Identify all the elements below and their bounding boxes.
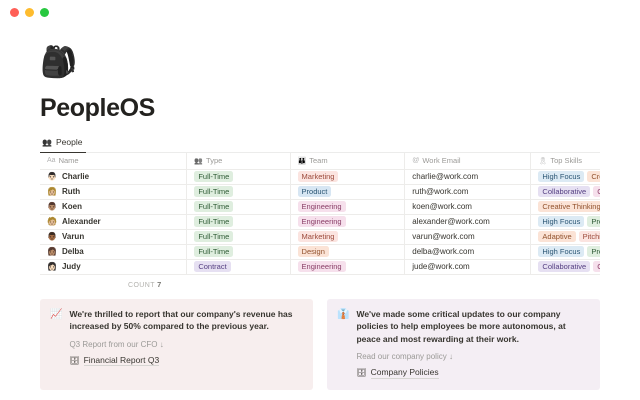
backpack-icon[interactable]: 🎒 [40, 48, 600, 78]
skill-tag[interactable]: Collaborative [538, 186, 590, 197]
column-header-type-label: Type [206, 156, 222, 165]
avatar: 👨🏻 [47, 172, 57, 181]
callout-policies: 👔 We've made some critical updates to ou… [327, 299, 600, 390]
type-tag[interactable]: Full-Time [194, 186, 233, 197]
table-row[interactable]: 👨🏾 Varun Full-Time Marketing varun@work.… [40, 229, 600, 244]
skill-tag[interactable]: Pitching [579, 231, 600, 242]
file-icon: 🗄 [356, 368, 366, 377]
column-header-team[interactable]: 👪 Team [290, 153, 405, 169]
column-header-work-email-label: Work Email [422, 156, 460, 165]
skill-tag[interactable]: High Focus [538, 216, 584, 227]
cell-team[interactable]: Marketing [290, 229, 405, 244]
table-header-row: Aa Name 👥 Type 👪 Team [40, 153, 600, 169]
cell-top-skills[interactable]: AdaptivePitchingControl [531, 229, 600, 244]
cell-work-email[interactable]: jude@work.com [405, 259, 531, 274]
callout-revenue: 📈 We're thrilled to report that our comp… [40, 299, 313, 390]
cell-work-email[interactable]: delba@work.com [405, 244, 531, 259]
table-row[interactable]: 🧑🏼 Alexander Full-Time Engineering alexa… [40, 214, 600, 229]
cell-name[interactable]: 👨🏾 Varun [40, 229, 187, 244]
people-icon: 👥 [42, 138, 52, 147]
team-tag[interactable]: Engineering [298, 261, 346, 272]
close-window-button[interactable] [10, 8, 19, 17]
count-label: COUNT [128, 282, 155, 289]
necktie-icon: 👔 [337, 308, 349, 379]
file-icon: 🗄 [69, 356, 79, 365]
cell-team[interactable]: Product [290, 184, 405, 199]
cell-work-email[interactable]: ruth@work.com [405, 184, 531, 199]
cell-top-skills[interactable]: CollaborativeCommunication [531, 259, 600, 274]
skill-tag[interactable]: Problem Solving [587, 246, 600, 257]
cell-name[interactable]: 👨🏽 Koen [40, 199, 187, 214]
column-header-name-label: Name [59, 156, 79, 165]
person-name: Delba [62, 247, 84, 256]
window-titlebar [0, 0, 640, 24]
zoom-window-button[interactable] [40, 8, 49, 17]
skill-tag[interactable]: High Focus [538, 246, 584, 257]
text-type-icon: Aa [47, 157, 56, 164]
person-name: Varun [62, 232, 84, 241]
cell-team[interactable]: Engineering [290, 199, 405, 214]
cell-type[interactable]: Full-Time [187, 169, 290, 184]
cell-type[interactable]: Full-Time [187, 229, 290, 244]
callout-revenue-subtext: Q3 Report from our CFO ↓ [69, 340, 303, 349]
cell-name[interactable]: 👩🏽 Delba [40, 244, 187, 259]
cell-top-skills[interactable]: High FocusProblem Solving [531, 214, 600, 229]
person-name: Judy [62, 262, 81, 271]
skill-tag[interactable]: Communication [593, 186, 600, 197]
callout-revenue-heading: We're thrilled to report that our compan… [69, 308, 303, 333]
team-tag[interactable]: Marketing [298, 231, 339, 242]
cell-type[interactable]: Full-Time [187, 199, 290, 214]
minimize-window-button[interactable] [25, 8, 34, 17]
callout-policies-heading: We've made some critical updates to our … [356, 308, 590, 346]
people-database-table: Aa Name 👥 Type 👪 Team [40, 153, 600, 275]
type-tag[interactable]: Full-Time [194, 216, 233, 227]
avatar: 👨🏽 [47, 202, 57, 211]
skill-tag[interactable]: Problem Solving [587, 216, 600, 227]
avatar: 👩🏽 [47, 247, 57, 256]
team-tag[interactable]: Marketing [298, 171, 339, 182]
chart-increasing-icon: 📈 [50, 308, 62, 379]
skill-tag[interactable]: Creative Thinking [538, 201, 600, 212]
avatar: 👨🏾 [47, 232, 57, 241]
column-header-name[interactable]: Aa Name [40, 153, 187, 169]
cell-team[interactable]: Design [290, 244, 405, 259]
avatar: 🧑🏼 [47, 217, 57, 226]
cell-work-email[interactable]: alexander@work.com [405, 214, 531, 229]
type-tag[interactable]: Contract [194, 261, 230, 272]
avatar: 👩🏼 [47, 187, 57, 196]
table-row[interactable]: 👩🏻 Judy Contract Engineering jude@work.c… [40, 259, 600, 274]
column-header-top-skills-label: Top Skills [550, 156, 582, 165]
column-header-top-skills[interactable]: 🎗 Top Skills [531, 153, 600, 169]
type-tag[interactable]: Full-Time [194, 231, 233, 242]
cell-work-email[interactable]: koen@work.com [405, 199, 531, 214]
column-header-work-email[interactable]: @ Work Email [405, 153, 531, 169]
callout-policies-link-label: Company Policies [371, 367, 439, 379]
tab-people-label: People [56, 137, 82, 147]
cell-name[interactable]: 🧑🏼 Alexander [40, 214, 187, 229]
cell-work-email[interactable]: varun@work.com [405, 229, 531, 244]
type-tag[interactable]: Full-Time [194, 201, 233, 212]
multiselect-type-icon: 👪 [298, 157, 307, 165]
cell-team[interactable]: Engineering [290, 259, 405, 274]
cell-top-skills[interactable]: High FocusCreative Thinking [531, 169, 600, 184]
table-row[interactable]: 👨🏻 Charlie Full-Time Marketing charlie@w… [40, 169, 600, 184]
tab-people[interactable]: 👥 People [40, 135, 86, 153]
table-row[interactable]: 👩🏼 Ruth Full-Time Product ruth@work.com … [40, 184, 600, 199]
count-value: 7 [157, 280, 161, 289]
team-tag[interactable]: Design [298, 246, 329, 257]
cell-team[interactable]: Engineering [290, 214, 405, 229]
person-name: Ruth [62, 187, 80, 196]
cell-work-email[interactable]: charlie@work.com [405, 169, 531, 184]
cell-name[interactable]: 👩🏻 Judy [40, 259, 187, 274]
table-body: 👨🏻 Charlie Full-Time Marketing charlie@w… [40, 169, 600, 274]
team-tag[interactable]: Product [298, 186, 332, 197]
person-name: Koen [62, 202, 82, 211]
person-name: Charlie [62, 172, 89, 181]
team-tag[interactable]: Engineering [298, 216, 346, 227]
callout-row: 📈 We're thrilled to report that our comp… [40, 299, 600, 390]
cell-type[interactable]: Full-Time [187, 214, 290, 229]
select-type-icon: 👥 [194, 157, 203, 165]
email-type-icon: @ [412, 157, 419, 164]
cell-type[interactable]: Contract [187, 259, 290, 274]
skill-tag[interactable]: Creative Thinking [587, 171, 600, 182]
callout-revenue-link-label: Financial Report Q3 [84, 355, 160, 367]
table-row[interactable]: 👩🏽 Delba Full-Time Design delba@work.com… [40, 244, 600, 259]
person-name: Alexander [62, 217, 101, 226]
cell-name[interactable]: 👩🏼 Ruth [40, 184, 187, 199]
callout-policies-subtext: Read our company policy ↓ [356, 352, 590, 361]
skill-tag[interactable]: Collaborative [538, 261, 590, 272]
skill-tag[interactable]: Adaptive [538, 231, 575, 242]
cell-team[interactable]: Marketing [290, 169, 405, 184]
cell-type[interactable]: Full-Time [187, 244, 290, 259]
column-header-team-label: Team [309, 156, 327, 165]
cell-name[interactable]: 👨🏻 Charlie [40, 169, 187, 184]
document-page: 🎒 PeopleOS 👥 People Aa Name [0, 48, 640, 400]
type-tag[interactable]: Full-Time [194, 171, 233, 182]
tags-type-icon: 🎗 [538, 157, 547, 165]
skill-tag[interactable]: Communication [593, 261, 600, 272]
callout-revenue-link[interactable]: 🗄 Financial Report Q3 [69, 355, 303, 367]
team-tag[interactable]: Engineering [298, 201, 346, 212]
cell-type[interactable]: Full-Time [187, 184, 290, 199]
skill-tag[interactable]: High Focus [538, 171, 584, 182]
page-title[interactable]: PeopleOS [40, 94, 600, 123]
cell-top-skills[interactable]: Creative ThinkingCommunication [531, 199, 600, 214]
column-header-type[interactable]: 👥 Type [187, 153, 290, 169]
database-view-tabs: 👥 People [40, 135, 600, 153]
database-table-wrapper: Aa Name 👥 Type 👪 Team [40, 153, 600, 275]
type-tag[interactable]: Full-Time [194, 246, 233, 257]
cell-top-skills[interactable]: CollaborativeCommunication [531, 184, 600, 199]
avatar: 👩🏻 [47, 262, 57, 271]
table-header: Aa Name 👥 Type 👪 Team [40, 153, 600, 169]
table-row[interactable]: 👨🏽 Koen Full-Time Engineering koen@work.… [40, 199, 600, 214]
callout-policies-link[interactable]: 🗄 Company Policies [356, 367, 590, 379]
cell-top-skills[interactable]: High FocusProblem Solving [531, 244, 600, 259]
table-count-footer: COUNT 7 [40, 275, 600, 289]
